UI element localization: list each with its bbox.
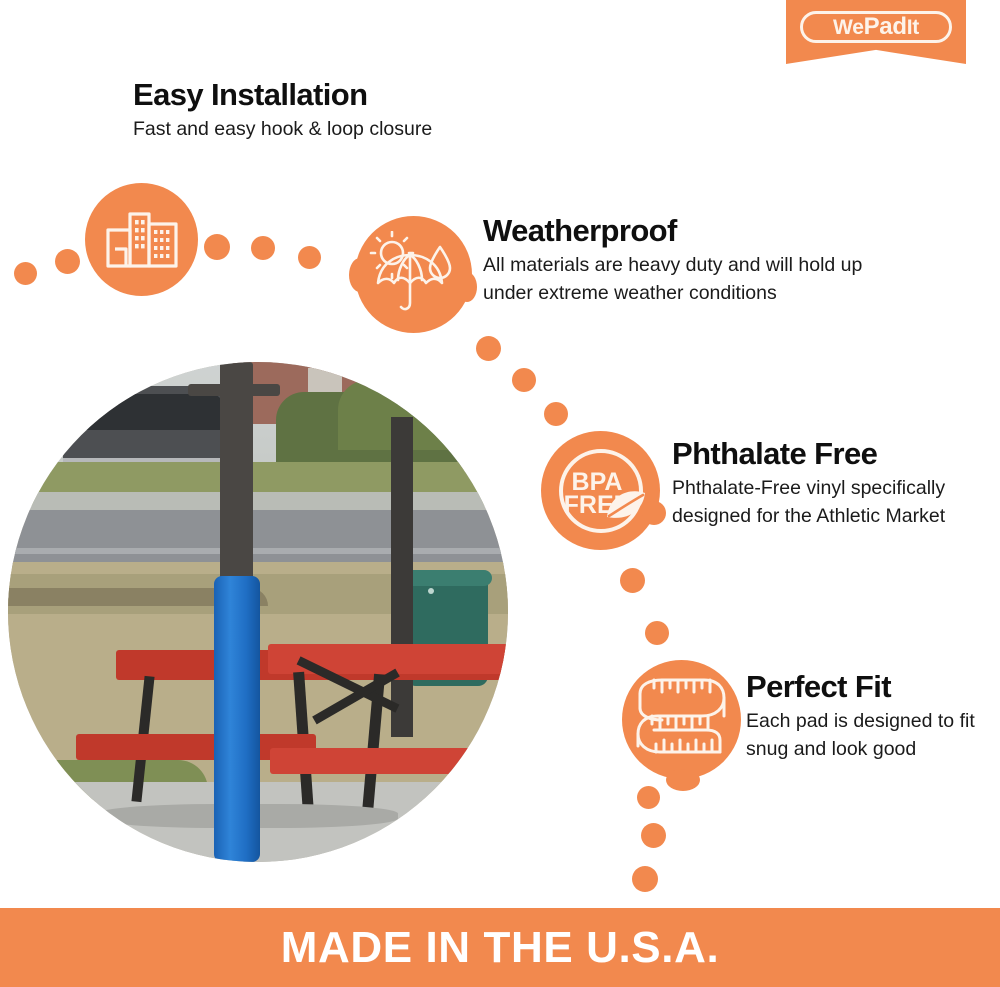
path-dot bbox=[620, 568, 645, 593]
path-dot bbox=[251, 236, 275, 260]
icon-blob-nub bbox=[642, 501, 666, 525]
brand-logo-badge: WePadIt bbox=[786, 0, 966, 64]
path-dot bbox=[512, 368, 536, 392]
bpa-free-leaf-icon: BPA FREE bbox=[541, 431, 660, 550]
path-dot bbox=[55, 249, 80, 274]
photo-car-window bbox=[83, 394, 223, 430]
brand-logo-part-pad: Pad bbox=[864, 13, 907, 40]
feature-description: Phthalate-Free vinyl specifically design… bbox=[672, 475, 972, 530]
feature-weatherproof: Weatherproof All materials are heavy dut… bbox=[483, 214, 913, 307]
feature-phthalate-free: Phthalate Free Phthalate-Free vinyl spec… bbox=[672, 437, 972, 530]
product-photo bbox=[8, 362, 508, 862]
feature-title: Weatherproof bbox=[483, 214, 913, 248]
icon-blob-nub bbox=[666, 769, 700, 791]
path-dot bbox=[632, 866, 658, 892]
path-dot bbox=[645, 621, 669, 645]
path-dot bbox=[641, 823, 666, 848]
path-dot bbox=[544, 402, 568, 426]
photo-road-edge bbox=[8, 548, 508, 554]
path-dot bbox=[298, 246, 321, 269]
path-dot bbox=[476, 336, 501, 361]
icon-blob-nub bbox=[349, 258, 371, 292]
feature-description: All materials are heavy duty and will ho… bbox=[483, 252, 913, 307]
feature-description: Each pad is designed to fit snug and loo… bbox=[746, 708, 986, 763]
photo-trash-can-rim bbox=[402, 570, 492, 586]
feature-title: Easy Installation bbox=[133, 78, 603, 112]
measuring-tape-icon bbox=[622, 660, 741, 779]
feature-easy-installation: Easy Installation Fast and easy hook & l… bbox=[133, 78, 603, 144]
photo-post bbox=[220, 362, 253, 592]
path-dot bbox=[637, 786, 660, 809]
sun-umbrella-rain-icon bbox=[355, 216, 472, 333]
brand-logo-part-we: We bbox=[833, 16, 864, 39]
made-in-usa-banner: MADE IN THE U.S.A. bbox=[0, 908, 1000, 987]
photo-road bbox=[8, 510, 508, 568]
brand-logo-part-it: It bbox=[907, 16, 919, 39]
photo-blue-post-pad bbox=[214, 576, 260, 862]
icon-blob-nub bbox=[457, 272, 477, 302]
building-icon bbox=[85, 183, 198, 296]
feature-perfect-fit: Perfect Fit Each pad is designed to fit … bbox=[746, 670, 986, 763]
feature-description: Fast and easy hook & loop closure bbox=[133, 116, 603, 144]
banner-text: MADE IN THE U.S.A. bbox=[281, 926, 720, 970]
photo-trash-can-highlight bbox=[428, 588, 434, 594]
brand-logo-frame: WePadIt bbox=[800, 11, 952, 43]
path-dot bbox=[204, 234, 230, 260]
feature-title: Perfect Fit bbox=[746, 670, 986, 704]
photo-secondary-post bbox=[391, 417, 413, 737]
infographic-page: WePadIt Easy Installation Fast and easy … bbox=[0, 0, 1000, 987]
brand-logo-text: WePadIt bbox=[833, 15, 919, 39]
feature-title: Phthalate Free bbox=[672, 437, 972, 471]
photo-bench bbox=[270, 748, 470, 774]
path-dot bbox=[14, 262, 37, 285]
